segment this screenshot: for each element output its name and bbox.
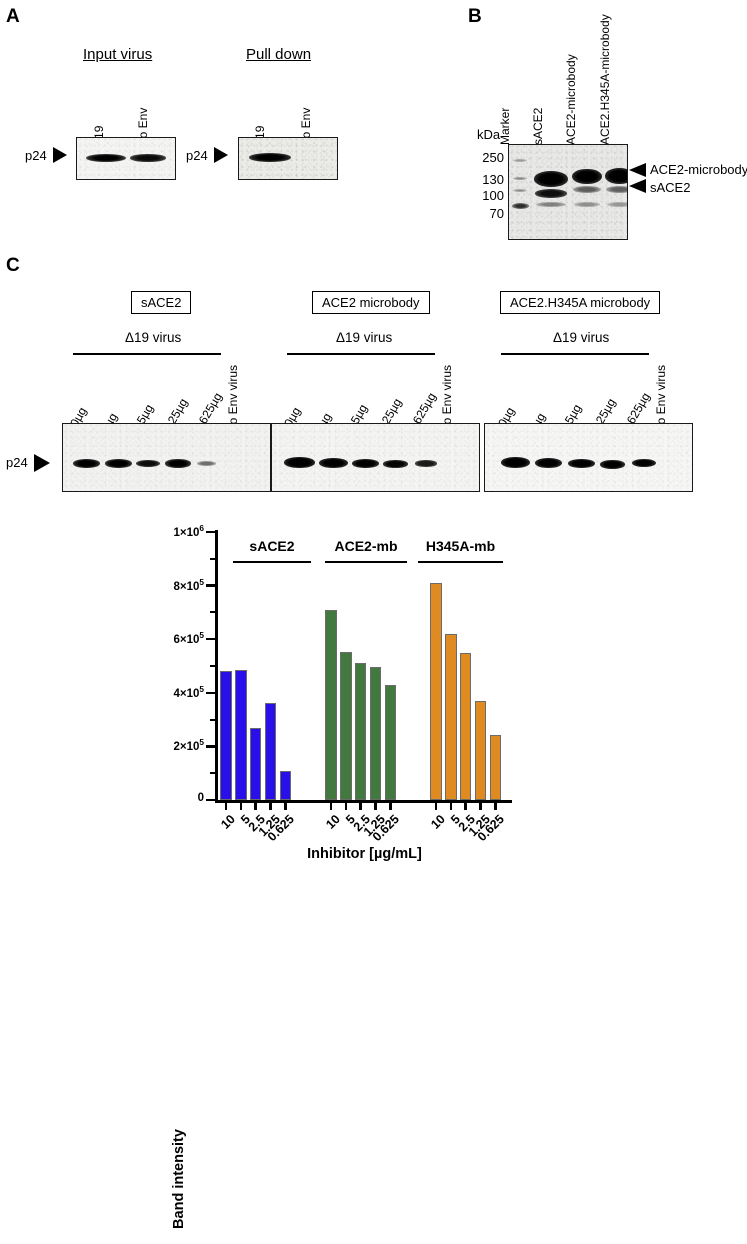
panel-b-mw-130: 130 xyxy=(472,172,504,187)
panel-b-letter: B xyxy=(468,6,482,28)
chart-y-axis-title: Band intensity xyxy=(171,1114,187,1244)
chart-x-tick xyxy=(464,802,466,810)
panel-b-arrow-icon-1 xyxy=(629,163,646,177)
chart-x-tick xyxy=(374,802,376,810)
chart-x-tick xyxy=(389,802,391,810)
panel-c-blot-3-image xyxy=(484,423,693,492)
panel-c-p24-label: p24 xyxy=(6,455,28,470)
panel-b-lane-label-sace2: sACE2 xyxy=(531,108,545,145)
chart-x-tick xyxy=(345,802,347,810)
panel-a-blot-1-image xyxy=(76,137,176,180)
panel-c-group-1-virus-rule xyxy=(73,353,221,355)
panel-c-group-2-virus-label: Δ19 virus xyxy=(336,330,392,345)
panel-a-blot-2-title: Pull down xyxy=(246,46,311,63)
panel-a-blot-1-arrow-icon xyxy=(53,147,67,163)
panel-c-letter: C xyxy=(6,255,20,277)
chart-x-tick xyxy=(450,802,452,810)
panel-c-p24-arrow-icon xyxy=(34,454,50,472)
panel-c-group-1-box-label: sACE2 xyxy=(131,291,191,314)
chart-x-tick xyxy=(359,802,361,810)
panel-c-blot-2-image xyxy=(271,423,480,492)
panel-b-arrow-label-2: sACE2 xyxy=(650,180,690,195)
panel-a-blot-1-p24-label: p24 xyxy=(25,148,47,163)
chart-x-tick xyxy=(479,802,481,810)
panel-a-blot-2-arrow-icon xyxy=(214,147,228,163)
panel-b-arrow-icon-2 xyxy=(629,179,646,193)
chart-x-tick xyxy=(284,802,286,810)
panel-b-lane-label-h345a-microbody: ACE2.H345A-microbody xyxy=(598,14,612,145)
chart-x-axis-title: Inhibitor [µg/mL] xyxy=(217,846,512,862)
panel-b-mw-250: 250 xyxy=(472,150,504,165)
panel-c-group-1-virus-label: Δ19 virus xyxy=(125,330,181,345)
chart-x-tick xyxy=(435,802,437,810)
panel-b-kda-label: kDa xyxy=(477,127,500,142)
band-intensity-chart: Band intensity 02×1054×1056×1058×1051×10… xyxy=(0,516,747,864)
panel-b-lane-label-ace2-microbody: ACE2-microbody xyxy=(564,54,578,145)
panel-b-mw-100: 100 xyxy=(472,188,504,203)
panel-b-mw-70: 70 xyxy=(472,206,504,221)
panel-c-group-3-box-label: ACE2.H345A microbody xyxy=(500,291,660,314)
chart-x-tick xyxy=(330,802,332,810)
chart-x-tick xyxy=(494,802,496,810)
panel-c-group-3-virus-rule xyxy=(501,353,649,355)
panel-a-blot-2-p24-label: p24 xyxy=(186,148,208,163)
panel-c-group-3-virus-label: Δ19 virus xyxy=(553,330,609,345)
panel-c-group-2-virus-rule xyxy=(287,353,435,355)
chart-x-tick xyxy=(254,802,256,810)
chart-x-tick xyxy=(269,802,271,810)
panel-b-blot-image xyxy=(508,144,628,240)
panel-c-blot-1-image xyxy=(62,423,271,492)
panel-a-letter: A xyxy=(6,6,20,28)
panel-b-arrow-label-1: ACE2-microbody xyxy=(650,162,747,177)
panel-c-group-2-box-label: ACE2 microbody xyxy=(312,291,430,314)
panel-a-blot-1-title: Input virus xyxy=(83,46,152,63)
chart-x-ticks: 1052.51.250.6251052.51.250.6251052.51.25… xyxy=(0,516,747,864)
chart-x-tick xyxy=(240,802,242,810)
panel-a-blot-2-image xyxy=(238,137,338,180)
chart-x-tick xyxy=(225,802,227,810)
